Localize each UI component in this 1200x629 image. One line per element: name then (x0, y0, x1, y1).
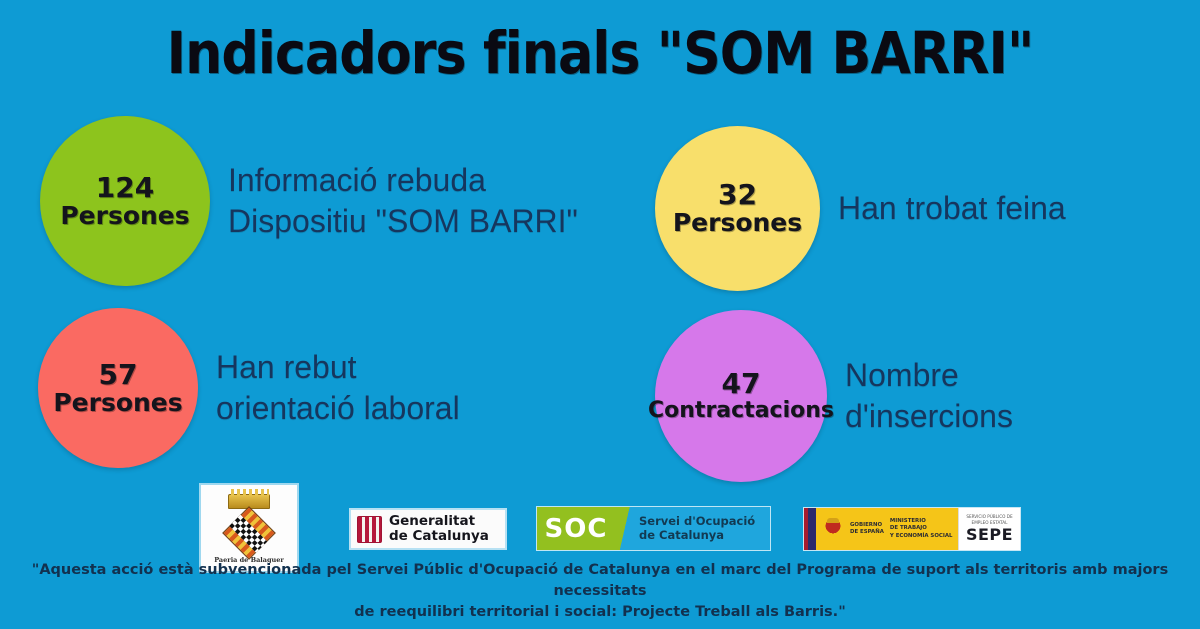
stats-container: 124 Persones Informació rebuda Dispositi… (0, 108, 1200, 498)
sepe-block: SERVICIO PÚBLICO DE EMPLEO ESTATAL SEPE (958, 508, 1020, 550)
spain-coat-of-arms-icon (822, 516, 844, 542)
sepe-full-name: SERVICIO PÚBLICO DE EMPLEO ESTATAL (959, 514, 1020, 525)
soc-acronym-box: SOC (537, 507, 615, 550)
stat-unit: Contractacions (648, 399, 834, 423)
stat-item-informacio-rebuda: 124 Persones Informació rebuda Dispositi… (40, 116, 578, 286)
stat-item-orientacio-laboral: 57 Persones Han rebut orientació laboral (38, 308, 460, 468)
paeria-crest-icon: Paeria de Balaguer (201, 485, 297, 571)
stat-value: 32 (718, 180, 757, 209)
generalitat-logo-text: Generalitat de Catalunya (389, 514, 489, 543)
soc-slash-icon (615, 507, 637, 550)
stat-bubble-magenta: 47 Contractacions (655, 310, 827, 482)
sepe-gobierno-logo: GOBIERNO DE ESPAÑA MINISTERIO DE TRABAJO… (803, 507, 1021, 551)
sepe-acronym: SEPE (966, 525, 1013, 544)
stat-value: 57 (99, 360, 138, 389)
stat-unit: Persones (60, 202, 189, 230)
shield-icon (222, 506, 276, 560)
stat-bubble-red: 57 Persones (38, 308, 198, 468)
soc-acronym: SOC (545, 514, 608, 544)
funding-disclaimer: "Aquesta acció està subvencionada pel Se… (0, 560, 1200, 623)
ministerio-label: MINISTERIO DE TRABAJO Y ECONOMÍA SOCIAL (890, 518, 953, 540)
stat-description: Han trobat feina (838, 188, 1066, 229)
stat-item-insercions: 47 Contractacions Nombre d'insercions (655, 310, 1013, 482)
catalan-flag-icon (357, 516, 382, 543)
stat-bubble-yellow: 32 Persones (655, 126, 820, 291)
page-title: Indicadors finals "SOM BARRI" (60, 24, 1140, 82)
stat-unit: Persones (53, 389, 182, 417)
soc-logo: SOC Servei d'Ocupació de Catalunya (536, 506, 771, 551)
stat-value: 124 (96, 173, 154, 202)
stat-value: 47 (722, 369, 761, 398)
spain-flag-stripe-icon (804, 508, 816, 550)
stat-unit: Persones (673, 209, 802, 237)
stat-bubble-green: 124 Persones (40, 116, 210, 286)
gobierno-label: GOBIERNO DE ESPAÑA (850, 522, 884, 537)
stat-description: Nombre d'insercions (845, 355, 1013, 437)
gobierno-de-espana-block: GOBIERNO DE ESPAÑA MINISTERIO DE TRABAJO… (816, 508, 958, 550)
stat-description: Han rebut orientació laboral (216, 347, 460, 429)
generalitat-de-catalunya-logo: Generalitat de Catalunya (349, 508, 507, 550)
soc-logo-text: Servei d'Ocupació de Catalunya (637, 507, 770, 550)
stat-item-han-trobat-feina: 32 Persones Han trobat feina (655, 126, 1066, 291)
stat-description: Informació rebuda Dispositiu "SOM BARRI" (228, 160, 578, 242)
